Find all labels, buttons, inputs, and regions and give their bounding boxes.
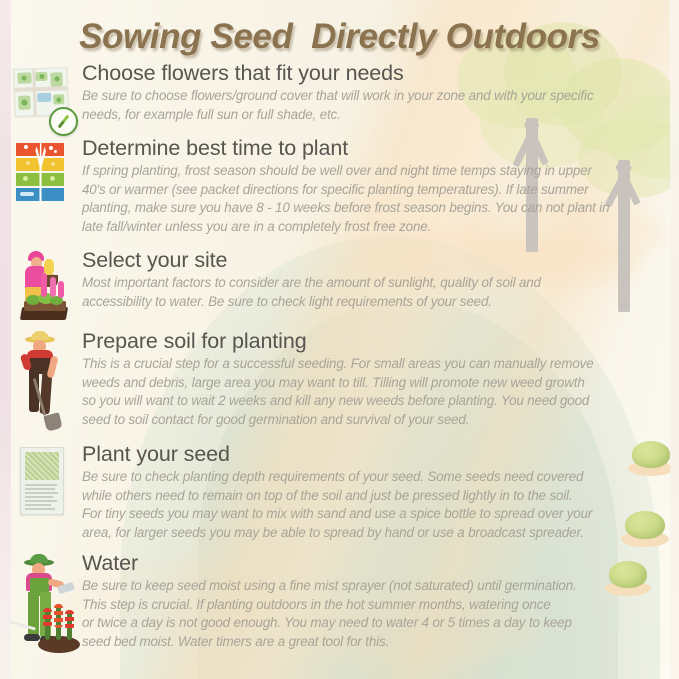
gardener-with-shovel-icon — [12, 330, 78, 434]
step-heading: Select your site — [82, 249, 672, 272]
step-heading: Choose flowers that fit your needs — [82, 62, 672, 85]
compass-icon — [49, 107, 78, 136]
step-body: Be sure to choose flowers/ground cover t… — [82, 87, 672, 124]
seed-packet-icon — [12, 443, 78, 531]
step-body: Be sure to keep seed moist using a fine … — [82, 577, 672, 651]
step-heading: Water — [82, 552, 672, 575]
gardener-with-flowers-icon — [12, 249, 78, 325]
four-seasons-tree-icon — [12, 137, 78, 213]
infographic-poster: Sowing Seed Directly Outdoors — [0, 0, 679, 679]
step-item: Water Be sure to keep seed moist using a… — [12, 552, 672, 656]
step-item: Determine best time to plant If spring p… — [12, 137, 672, 236]
step-item: Choose flowers that fit your needs Be su… — [12, 62, 672, 138]
step-heading: Plant your seed — [82, 443, 672, 466]
step-body: If spring planting, frost season should … — [82, 162, 672, 236]
step-heading: Prepare soil for planting — [82, 330, 672, 353]
gardener-watering-icon — [12, 552, 78, 656]
steps-list: Choose flowers that fit your needs Be su… — [0, 0, 679, 679]
step-item: Plant your seed Be sure to check plantin… — [12, 443, 672, 542]
step-body: Most important factors to consider are t… — [82, 274, 672, 311]
step-item: Select your site Most important factors … — [12, 249, 672, 325]
step-heading: Determine best time to plant — [82, 137, 672, 160]
step-item: Prepare soil for planting This is a cruc… — [12, 330, 672, 434]
step-body: Be sure to check planting depth requirem… — [82, 468, 672, 542]
step-body: This is a crucial step for a successful … — [82, 355, 672, 429]
garden-plan-compass-icon — [12, 62, 78, 138]
